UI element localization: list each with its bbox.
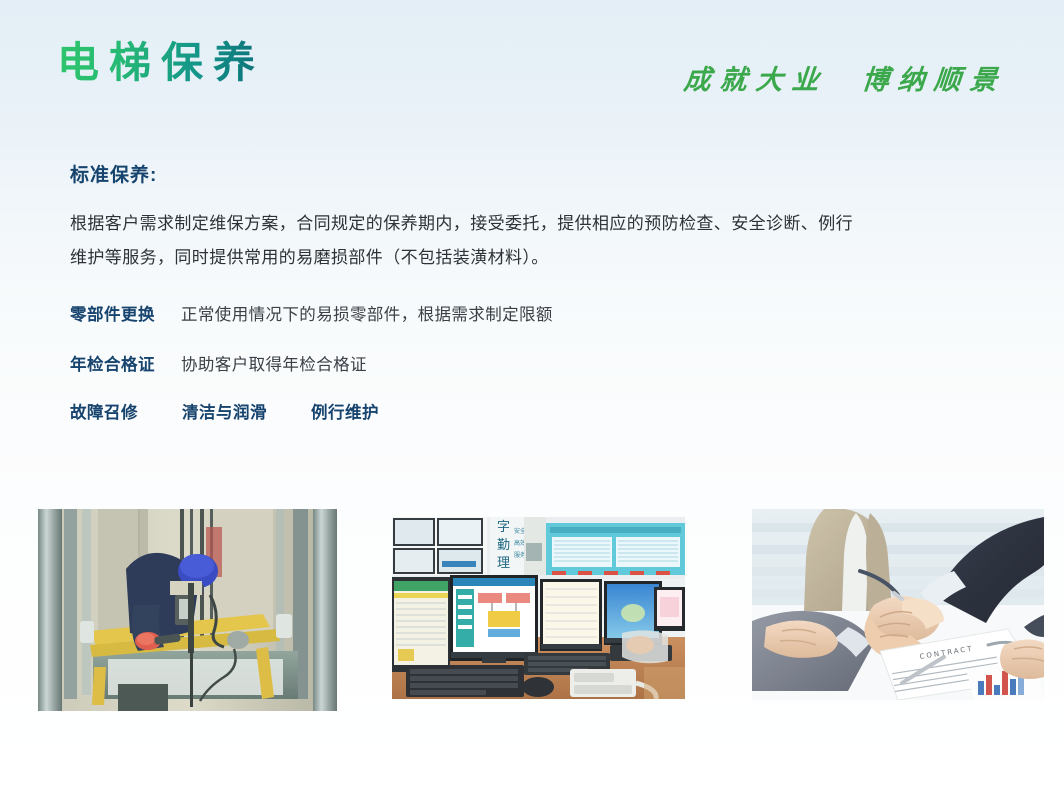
company-slogan: 成就大业博纳顺景 — [682, 58, 1007, 97]
section-heading-standard-maintenance: 标准保养: — [70, 160, 1000, 187]
elevator-photo-graphic — [38, 509, 337, 711]
elevator-maintenance-photo — [38, 509, 337, 711]
control-room-photo: 字 勤 理 安全 高效 服务 — [392, 517, 685, 699]
tag-row: 故障召修清洁与润滑例行维护 — [70, 399, 1000, 423]
control-room-photo-graphic: 字 勤 理 安全 高效 服务 — [392, 517, 685, 699]
item-label-annual-certificate: 年检合格证 — [70, 351, 155, 375]
item-text-parts-replacement: 正常使用情况下的易损零部件，根据需求制定限额 — [181, 301, 553, 325]
list-item: 年检合格证协助客户取得年检合格证 — [70, 351, 1000, 375]
list-item: 零部件更换正常使用情况下的易损零部件，根据需求制定限额 — [70, 301, 1000, 325]
item-text-annual-certificate: 协助客户取得年检合格证 — [181, 351, 367, 375]
standard-maintenance-paragraph: 根据客户需求制定维保方案，合同规定的保养期内，接受委托，提供相应的预防检查、安全… — [70, 207, 870, 275]
slogan-phrase-two: 博纳顺景 — [860, 65, 1007, 96]
item-label-parts-replacement: 零部件更换 — [70, 301, 155, 325]
handshake-contract-photo: CONTRACT — [752, 509, 1044, 700]
tag-breakdown-repair: 故障召修 — [70, 399, 138, 423]
handshake-photo-graphic: CONTRACT — [752, 509, 1044, 700]
page-title: 电梯保养 — [57, 40, 265, 86]
content-body: 标准保养: 根据客户需求制定维保方案，合同规定的保养期内，接受委托，提供相应的预… — [70, 160, 1000, 423]
slide-header: 电梯保养 成就大业博纳顺景 — [0, 0, 1064, 125]
tag-routine-maintenance: 例行维护 — [311, 399, 379, 423]
slogan-phrase-one: 成就大业 — [682, 65, 829, 96]
slide-canvas: 电梯保养 成就大业博纳顺景 标准保养: 根据客户需求制定维保方案，合同规定的保养… — [0, 0, 1064, 788]
tag-cleaning-lubrication: 清洁与润滑 — [182, 399, 267, 423]
